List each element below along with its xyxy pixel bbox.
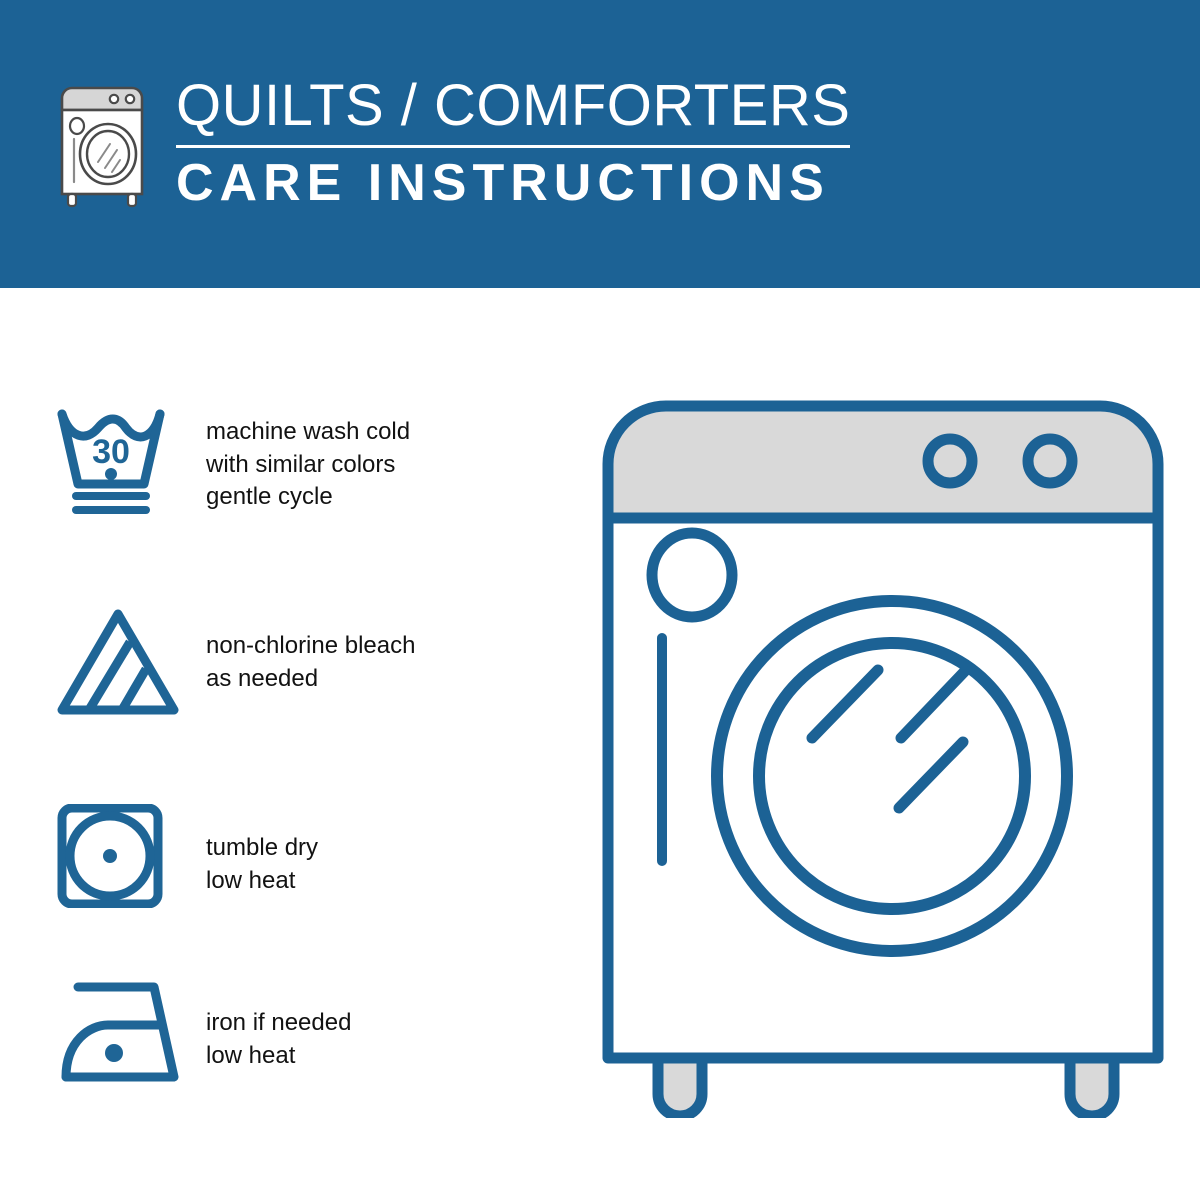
machine-wash-tub-icon: 30 [56,408,190,518]
iron-instruction-text: iron if needed low heat [206,979,351,1072]
wash-line-1: machine wash cold [206,416,410,449]
bleach-icon-wrap [56,606,206,718]
washing-machine-logo-icon [52,82,152,210]
tumble-dry-instruction-text: tumble dry low heat [206,804,318,897]
front-load-washing-machine-illustration [600,398,1166,1118]
page-header: QUILTS / COMFORTERS CARE INSTRUCTIONS [0,0,1200,288]
wash-heat-dot [105,468,117,480]
tumble-dry-heat-dot [103,849,117,863]
dry-line-2: low heat [206,865,318,898]
wash-icon-wrap: 30 [56,408,206,518]
gentle-cycle-bar-2 [72,506,150,514]
header-inner: QUILTS / COMFORTERS CARE INSTRUCTIONS [52,78,850,210]
care-symbol-row-bleach: non-chlorine bleach as needed [56,606,536,804]
gentle-cycle-bar-1 [72,492,150,500]
washer-door-inner-ring [759,643,1025,909]
washer-leg-right [1070,1058,1114,1116]
care-instructions-page: QUILTS / COMFORTERS CARE INSTRUCTIONS 30 [0,0,1200,1200]
page-subtitle: CARE INSTRUCTIONS [176,157,850,209]
tumble-dry-icon [56,804,172,908]
iron-heat-dot [105,1044,123,1062]
non-chlorine-bleach-triangle-icon [56,606,184,718]
wash-temperature-value: 30 [92,433,130,471]
wash-line-3: gentle cycle [206,481,410,514]
washer-knob-1 [928,439,972,483]
care-symbol-row-wash: 30 machine wash cold with similar colors… [56,408,536,606]
washer-knob-2 [1028,439,1072,483]
header-title-block: QUILTS / COMFORTERS CARE INSTRUCTIONS [176,78,850,209]
bleach-instruction-text: non-chlorine bleach as needed [206,606,415,695]
washer-dispenser-dial [652,533,732,617]
tumble-dry-icon-wrap [56,804,206,908]
bleach-line-2: as needed [206,663,415,696]
iron-icon-wrap [56,979,206,1087]
washing-machine-illustration-wrap [600,398,1166,1118]
washer-leg-left [658,1058,702,1116]
iron-line-1: iron if needed [206,1007,351,1040]
page-title: QUILTS / COMFORTERS [176,78,850,135]
dry-line-1: tumble dry [206,832,318,865]
iron-line-2: low heat [206,1040,351,1073]
iron-icon [56,979,190,1087]
title-divider [176,145,850,148]
care-symbol-list: 30 machine wash cold with similar colors… [56,408,536,1177]
wash-instruction-text: machine wash cold with similar colors ge… [206,408,410,514]
care-symbol-row-iron: iron if needed low heat [56,979,536,1177]
bleach-line-1: non-chlorine bleach [206,630,415,663]
bleach-stripe-2 [122,669,146,710]
care-symbol-row-tumble-dry: tumble dry low heat [56,804,536,979]
wash-line-2: with similar colors [206,449,410,482]
page-content: 30 machine wash cold with similar colors… [0,288,1200,1200]
